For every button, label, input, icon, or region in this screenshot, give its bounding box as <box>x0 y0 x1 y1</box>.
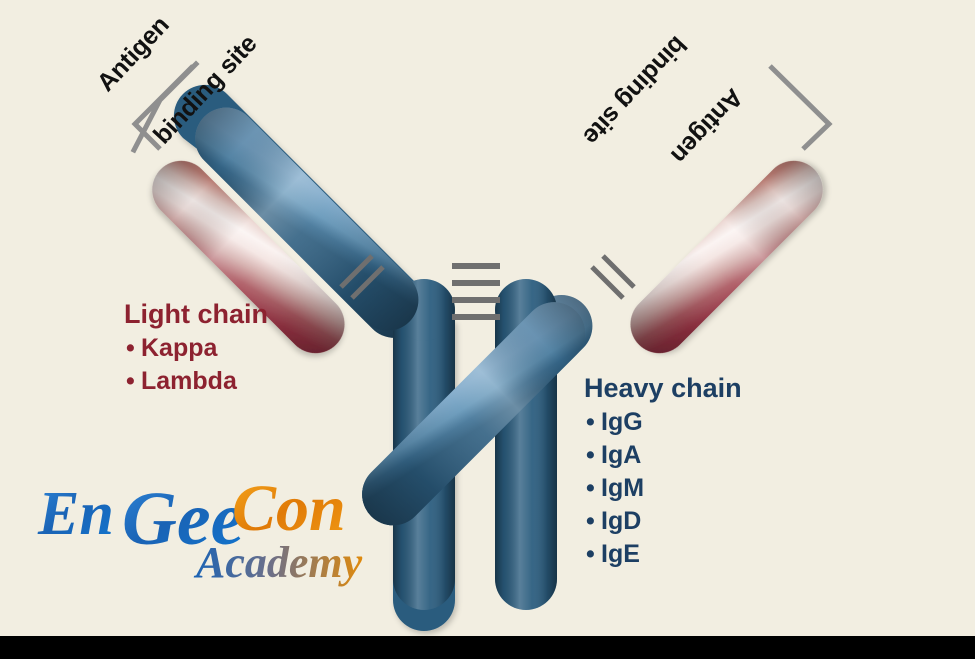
bullet-icon: • <box>586 538 595 571</box>
logo-part-con: Con <box>232 472 346 545</box>
heavy-chain-item-label: IgA <box>601 441 641 469</box>
list-item: • IgA <box>584 439 742 472</box>
bullet-icon: • <box>586 406 595 439</box>
list-item: • IgG <box>584 406 742 439</box>
list-item: • Kappa <box>124 332 268 365</box>
diagram-stage: Antigen binding site Antigen binding sit… <box>0 0 975 659</box>
logo-subtitle-academy: Academy <box>193 538 363 587</box>
light-chain-legend: Light chain • Kappa • Lambda <box>124 300 268 398</box>
footer-black-band <box>0 636 975 659</box>
heavy-chain-legend: Heavy chain • IgG • IgA • IgM • IgD <box>584 374 742 571</box>
logo-part-en: En <box>37 480 114 548</box>
light-chain-heading: Light chain <box>124 300 268 330</box>
heavy-chain-item-label: IgG <box>601 408 643 436</box>
light-chain-item-label: Kappa <box>141 334 217 362</box>
heavy-chain-heading: Heavy chain <box>584 374 742 404</box>
hinge-disulfide-bonds <box>452 266 500 317</box>
list-item: • Lambda <box>124 365 268 398</box>
disulfide-bonds-right <box>592 256 634 298</box>
heavy-chain-item-label: IgD <box>601 507 641 535</box>
list-item: • IgE <box>584 538 742 571</box>
diagram-canvas: Antigen binding site Antigen binding sit… <box>0 0 975 636</box>
heavy-chain-item-label: IgM <box>601 474 644 502</box>
bullet-icon: • <box>586 505 595 538</box>
bullet-icon: • <box>586 472 595 505</box>
heavy-chain-item-label: IgE <box>601 540 640 568</box>
bullet-icon: • <box>586 439 595 472</box>
heavy-chain-list: • IgG • IgA • IgM • IgD • IgE <box>584 406 742 571</box>
bullet-icon: • <box>126 332 135 365</box>
light-chain-item-label: Lambda <box>141 367 237 395</box>
light-chain-list: • Kappa • Lambda <box>124 332 268 398</box>
list-item: • IgM <box>584 472 742 505</box>
list-item: • IgD <box>584 505 742 538</box>
engeecon-academy-logo[interactable]: En Gee Con Academy <box>36 452 386 592</box>
bullet-icon: • <box>126 365 135 398</box>
